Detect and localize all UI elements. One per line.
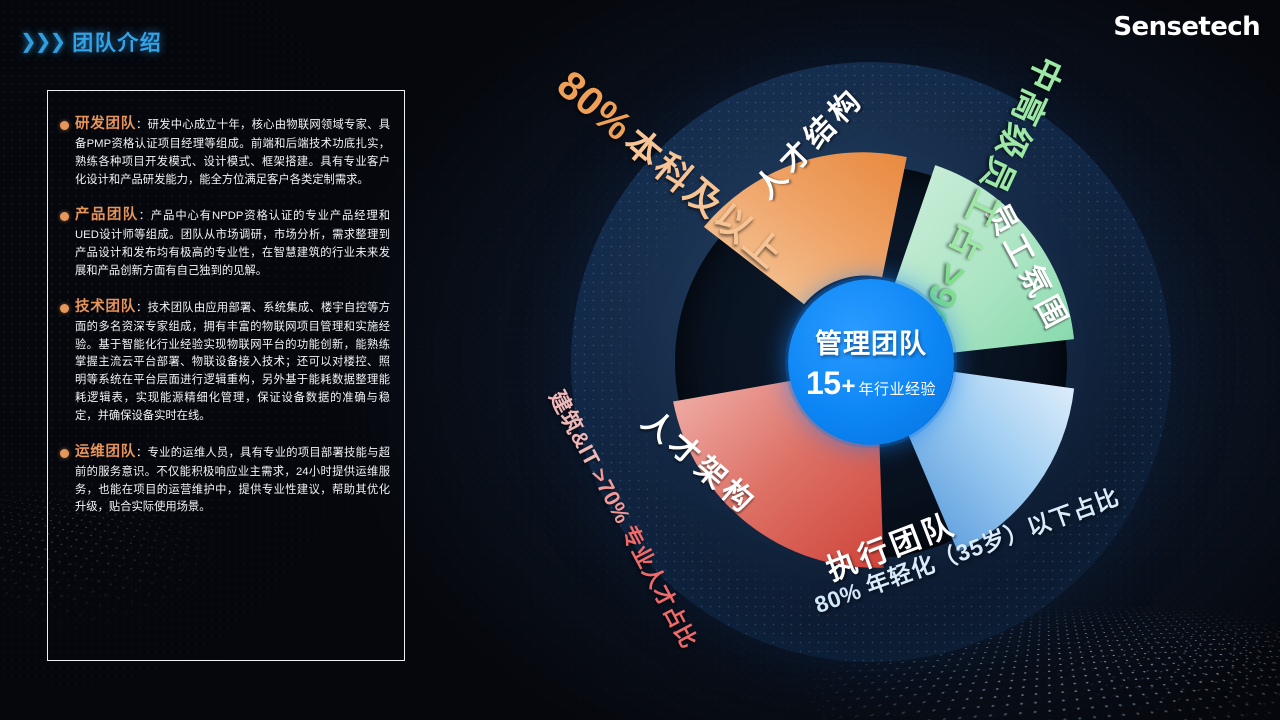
paragraph: 产品团队：产品中心有NPDP资格认证的专业产品经理和UED设计师等组成。团队从市… <box>75 204 390 280</box>
team-description-panel: 研发团队：研发中心成立十年，核心由物联网领域专家、具备PMP资格认证项目经理等组… <box>47 90 405 661</box>
paragraph: 技术团队：技术团队由应用部署、系统集成、楼宇自控等方面的多名资深专家组成，拥有丰… <box>75 296 390 426</box>
core-years-unit: 年行业经验 <box>859 378 937 399</box>
list-item-label: 研发团队 <box>75 116 136 132</box>
bullet-icon <box>60 121 69 130</box>
donut-center-core: 管理团队 15 + 年行业经验 <box>788 279 954 445</box>
team-structure-donut-chart: 人才结构 员工氛围 执行团队 人才架构 80% 本科及以上 中高级员工占 >90… <box>557 48 1185 676</box>
page-title-text: 团队介绍 <box>72 27 162 57</box>
brand-logo: Sensetech <box>1113 12 1260 42</box>
bullet-icon <box>60 449 69 458</box>
bullet-icon <box>60 304 69 313</box>
list-item: 产品团队：产品中心有NPDP资格认证的专业产品经理和UED设计师等组成。团队从市… <box>60 204 390 280</box>
list-item-text: ：技术团队由应用部署、系统集成、楼宇自控等方面的多名资深专家组成，拥有丰富的物联… <box>75 302 390 422</box>
list-item-label: 技术团队 <box>75 299 136 315</box>
core-years-number: 15 <box>806 365 841 402</box>
paragraph: 研发团队：研发中心成立十年，核心由物联网领域专家、具备PMP资格认证项目经理等组… <box>75 113 390 189</box>
page-title: ❯❯❯ 团队介绍 <box>20 27 162 57</box>
core-title: 管理团队 <box>815 322 927 361</box>
list-item: 研发团队：研发中心成立十年，核心由物联网领域专家、具备PMP资格认证项目经理等组… <box>60 113 390 189</box>
core-experience: 15 + 年行业经验 <box>806 365 936 402</box>
paragraph: 运维团队：专业的运维人员，具有专业的项目部署技能与超前的服务意识。不仅能积极响应… <box>75 441 390 517</box>
list-item-label: 运维团队 <box>75 444 136 460</box>
bullet-icon <box>60 212 69 221</box>
list-item: 运维团队：专业的运维人员，具有专业的项目部署技能与超前的服务意识。不仅能积极响应… <box>60 441 390 517</box>
core-plus-sign: + <box>842 373 856 401</box>
list-item-label: 产品团队 <box>75 207 139 223</box>
triple-chevron-right-icon: ❯❯❯ <box>20 32 63 52</box>
list-item: 技术团队：技术团队由应用部署、系统集成、楼宇自控等方面的多名资深专家组成，拥有丰… <box>60 296 390 426</box>
